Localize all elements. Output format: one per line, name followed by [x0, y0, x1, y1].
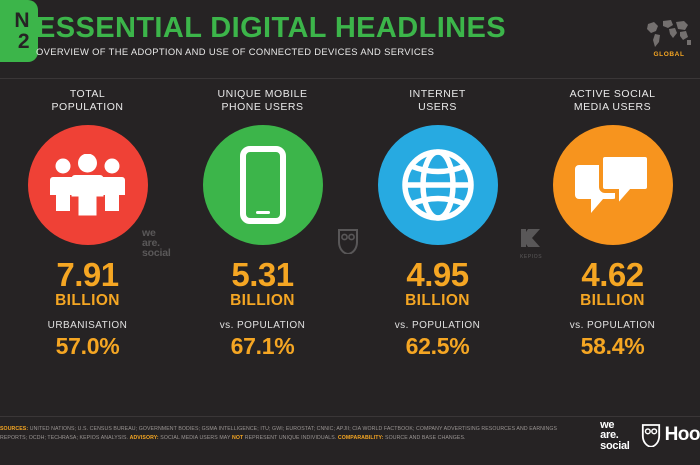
speech-bubbles-icon	[575, 151, 651, 219]
logo-we-are-social: we are. social	[600, 420, 629, 452]
page-title: ESSENTIAL DIGITAL HEADLINES	[36, 12, 506, 44]
metric-unit: BILLION	[580, 292, 645, 309]
comparability-tag: COMPARABILITY:	[338, 435, 384, 441]
metric-sub-label: vs. POPULATION	[395, 320, 481, 331]
metric-value: 7.91	[56, 258, 118, 292]
column-header-line2: POPULATION	[52, 101, 124, 114]
metric-sub-value: 67.1%	[231, 333, 295, 359]
watermark-was-line3: social	[142, 248, 171, 258]
kepios-logo-icon	[520, 228, 542, 248]
metric-circle	[378, 125, 498, 245]
date-badge: N 2	[0, 0, 38, 62]
metric-column-internet-users: INTERNET USERS 4.95 BILLION vs. POPULATI…	[350, 88, 525, 359]
column-header-line2: MEDIA USERS	[570, 101, 656, 114]
metric-sub-value: 57.0%	[56, 333, 120, 359]
hootsuite-owl-icon	[337, 228, 359, 254]
metric-circle	[553, 125, 673, 245]
metric-circle	[28, 125, 148, 245]
column-header: INTERNET USERS	[409, 88, 466, 114]
world-map-icon	[644, 16, 694, 50]
metric-unit: BILLION	[55, 292, 120, 309]
global-region-logo: GLOBAL	[642, 16, 696, 68]
logo-was-line3: social	[600, 441, 629, 452]
date-badge-line2: 2	[18, 31, 29, 52]
metric-value: 4.95	[406, 258, 468, 292]
column-header-line1: UNIQUE MOBILE	[218, 88, 308, 101]
column-header-line2: USERS	[409, 101, 466, 114]
column-header-line2: PHONE USERS	[218, 101, 308, 114]
footer-logos: we are. social Hoo	[600, 420, 700, 452]
metric-sub-value: 62.5%	[406, 333, 470, 359]
header-divider	[0, 78, 700, 79]
footer-sources: SOURCES: UNITED NATIONS; U.S. CENSUS BUR…	[0, 425, 580, 443]
metric-column-total-population: TOTAL POPULATION 7.91 BILLION URBAN	[0, 88, 175, 359]
metric-value: 5.31	[231, 258, 293, 292]
page-subtitle: OVERVIEW OF THE ADOPTION AND USE OF CONN…	[36, 46, 506, 57]
metric-sub-label: vs. POPULATION	[570, 320, 656, 331]
metrics-row: TOTAL POPULATION 7.91 BILLION URBAN	[0, 88, 700, 359]
metric-sub-label: vs. POPULATION	[220, 320, 306, 331]
hootsuite-owl-icon	[641, 423, 661, 447]
global-label: GLOBAL	[653, 51, 684, 58]
watermark-hootsuite	[337, 228, 359, 259]
logo-hootsuite-text: Hoo	[665, 424, 700, 446]
footer-divider	[0, 416, 700, 417]
kepios-label: KEPIOS	[520, 254, 542, 260]
logo-hootsuite: Hoo	[641, 423, 700, 447]
column-header: TOTAL POPULATION	[52, 88, 124, 114]
metric-column-mobile-phone-users: UNIQUE MOBILE PHONE USERS 5.31 BILLION v…	[175, 88, 350, 359]
infographic-slide: N 2 ESSENTIAL DIGITAL HEADLINES OVERVIEW…	[0, 0, 700, 465]
globe-grid-icon	[398, 145, 478, 225]
column-header-line1: ACTIVE SOCIAL	[570, 88, 656, 101]
advisory-body: SOCIAL MEDIA USERS MAY	[159, 435, 232, 441]
column-header-line1: TOTAL	[52, 88, 124, 101]
watermark-we-are-social: we are. social	[142, 228, 171, 258]
metric-circle	[203, 125, 323, 245]
metric-sub-value: 58.4%	[581, 333, 645, 359]
advisory-body2: REPRESENT UNIQUE INDIVIDUALS.	[243, 435, 338, 441]
date-badge-line1: N	[14, 10, 29, 31]
column-header: ACTIVE SOCIAL MEDIA USERS	[570, 88, 656, 114]
mobile-phone-icon	[240, 146, 286, 224]
metric-value: 4.62	[581, 258, 643, 292]
metric-unit: BILLION	[405, 292, 470, 309]
advisory-not-tag: NOT	[232, 435, 243, 441]
advisory-tag: ADVISORY:	[130, 435, 159, 441]
metric-unit: BILLION	[230, 292, 295, 309]
metric-column-social-media-users: ACTIVE SOCIAL MEDIA USERS 4.62 BILLION v…	[525, 88, 700, 359]
column-header-line1: INTERNET	[409, 88, 466, 101]
logo-was-line2: are.	[600, 430, 629, 441]
column-header: UNIQUE MOBILE PHONE USERS	[218, 88, 308, 114]
watermark-kepios: KEPIOS	[520, 228, 542, 260]
sources-tag: SOURCES:	[0, 426, 28, 432]
people-group-icon	[49, 154, 127, 216]
comparability-body: SOURCE AND BASE CHANGES.	[384, 435, 466, 441]
title-block: ESSENTIAL DIGITAL HEADLINES OVERVIEW OF …	[36, 12, 506, 57]
metric-sub-label: URBANISATION	[48, 320, 128, 331]
